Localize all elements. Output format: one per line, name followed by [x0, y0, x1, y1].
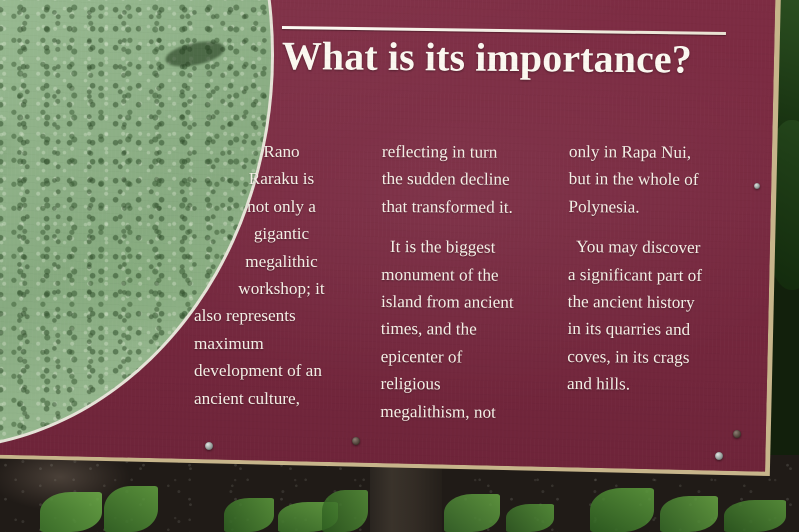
- foliage-sprig: [660, 496, 718, 532]
- foliage-sprig: [724, 500, 786, 532]
- text-line: Raraku is: [194, 165, 369, 192]
- text-line: workshop; it: [194, 275, 369, 302]
- text-line: megalithic: [194, 248, 369, 275]
- screw-bottom-right-lower: [715, 452, 723, 460]
- text-line: the sudden decline: [382, 165, 557, 193]
- text-column-2: reflecting in turn the sudden decline th…: [380, 138, 557, 426]
- text-line: that transformed it.: [381, 193, 556, 221]
- text-line: development of an: [194, 357, 369, 384]
- paragraph: Rano Raraku is not only a gigantic megal…: [194, 138, 369, 412]
- text-line: only in Rapa Nui,: [569, 138, 739, 167]
- text-line: the ancient history: [568, 288, 738, 317]
- sign-face: What is its importance? Rano Raraku is n…: [0, 0, 784, 476]
- text-line: ancient culture,: [194, 385, 369, 412]
- text-line: not only a: [194, 193, 369, 220]
- text-line: times, and the: [381, 315, 556, 343]
- screw-right-edge: [754, 183, 760, 189]
- screw-bottom-left: [205, 442, 213, 450]
- text-line: reflecting in turn: [382, 138, 557, 166]
- foliage-sprig: [506, 504, 554, 532]
- text-line: religious: [380, 370, 555, 398]
- sign-post: [370, 463, 442, 532]
- text-line: and hills.: [567, 370, 737, 399]
- text-line: It is the biggest: [381, 233, 556, 261]
- photo-scene: What is its importance? Rano Raraku is n…: [0, 0, 799, 532]
- paragraph: reflecting in turn the sudden decline th…: [381, 138, 556, 221]
- text-line: gigantic: [194, 220, 369, 247]
- foliage-sprig: [104, 486, 158, 532]
- text-column-3: only in Rapa Nui, but in the whole of Po…: [567, 138, 739, 399]
- paragraph: It is the biggest monument of the island…: [380, 233, 556, 426]
- paragraph: only in Rapa Nui, but in the whole of Po…: [568, 138, 739, 222]
- foliage-sprig: [40, 492, 102, 532]
- text-line: You may discover: [568, 233, 738, 262]
- text-column-1: Rano Raraku is not only a gigantic megal…: [194, 138, 369, 412]
- text-line: a significant part of: [568, 261, 738, 290]
- title-line-1: What is its: [282, 33, 466, 80]
- foliage-sprig: [224, 498, 274, 532]
- text-line: but in the whole of: [569, 165, 739, 194]
- text-line: Rano: [194, 138, 369, 165]
- text-line: epicenter of: [381, 343, 556, 371]
- text-line: megalithism, not: [380, 398, 555, 426]
- text-line: in its quarries and: [567, 315, 737, 344]
- text-line: coves, in its crags: [567, 343, 737, 372]
- text-line: maximum: [194, 330, 369, 357]
- text-line: Polynesia.: [568, 193, 738, 222]
- text-line: island from ancient: [381, 288, 556, 316]
- paragraph: You may discover a significant part of t…: [567, 233, 738, 399]
- screw-bottom-center: [352, 437, 360, 445]
- foliage-sprig: [322, 490, 368, 532]
- text-line: monument of the: [381, 261, 556, 289]
- sign-board: What is its importance? Rano Raraku is n…: [0, 0, 784, 476]
- screw-bottom-right-upper: [733, 430, 741, 438]
- title-line-2: importance?: [475, 35, 692, 82]
- foliage-sprig: [444, 494, 500, 532]
- text-line: also represents: [194, 302, 369, 329]
- foliage-sprig: [590, 488, 654, 532]
- page-title: What is its importance?: [282, 35, 702, 80]
